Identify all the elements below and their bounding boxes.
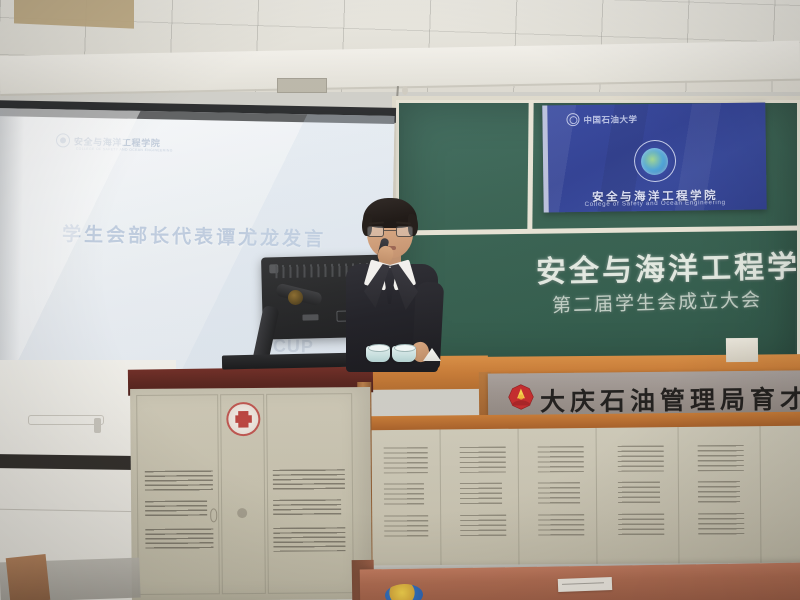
podium-vent [145,500,207,519]
speaker-person [334,198,444,370]
emblem-glyph [235,410,252,427]
petrochina-logo [508,384,534,410]
cabinet-vent [384,483,424,505]
cabinet-vent [618,481,660,503]
eyeglasses-icon [367,226,413,237]
panel-seam [596,424,598,564]
wall-rail [28,415,104,425]
teacup [366,346,390,362]
slide-title: 学生会部长代表谭尤龙发言 [62,219,327,251]
classroom-scene: 安全与海洋工程学院 第二届学生会成立大会 中国石油大学 安全与海洋工程学院 Co… [0,0,800,600]
podium-cabinet [130,387,372,600]
podium-vent [145,470,213,493]
podium-lock-knob[interactable] [237,508,247,518]
ceiling-vent [277,78,327,93]
wall-hook [94,418,101,433]
foreground-chair [6,554,51,600]
glasses-bridge [384,230,396,231]
cabinet-vent [538,482,580,504]
monitor-mount-arm [248,288,304,356]
lens-left [367,226,384,237]
panel-seam [440,425,442,565]
podium-vent [273,469,345,492]
cabinet-vent [698,481,740,503]
cabinet-vent [618,513,664,537]
monitor-connector [302,314,318,320]
name-card-text-line [562,582,604,585]
college-banner: 中国石油大学 安全与海洋工程学院 College of Safety and O… [542,102,766,212]
podium-door-left[interactable] [136,394,220,595]
podium-door-right[interactable] [266,393,354,594]
teacups-group [366,346,436,366]
university-emblem-icon [226,402,260,436]
left-wall-dark-band [0,454,136,470]
teacup [392,346,416,362]
cabinet-vent [384,447,428,473]
name-card [558,577,612,592]
chalk-box [726,338,758,362]
chalkboard-heading: 安全与海洋工程学院 [536,241,800,291]
cabinet-vent [698,513,744,537]
podium-vent [273,527,345,552]
cabinet-vent [460,447,506,473]
college-seal-icon [633,140,676,183]
panel-seam [678,423,680,563]
slide-logo-mark-icon [56,133,70,147]
university-mark-icon [566,113,579,126]
college-seal-inner [641,147,668,174]
podium-vent [273,499,341,518]
lower-wall-panels [368,422,800,565]
cabinet-vent [460,483,502,505]
cabinet-vent [384,515,428,539]
cabinet-vent [538,514,584,538]
screen-left-shadow [0,108,25,369]
university-logo: 中国石油大学 [566,112,637,126]
university-name: 中国石油大学 [583,113,637,126]
podium-vent [145,528,213,551]
lens-right [396,226,413,237]
podium-handle[interactable] [210,508,217,522]
cabinet-vent [538,446,584,472]
panel-seam [518,424,520,564]
slide-logo-subtext: COLLEGE OF SAFETY AND OCEAN ENGINEERING [76,147,173,153]
cabinet-vent [618,445,664,471]
ceiling-hook [402,86,408,95]
arm-pivot-joint [288,290,303,305]
cabinet-vent [698,445,744,471]
panel-seam [760,423,762,563]
cabinet-vent [460,515,506,539]
